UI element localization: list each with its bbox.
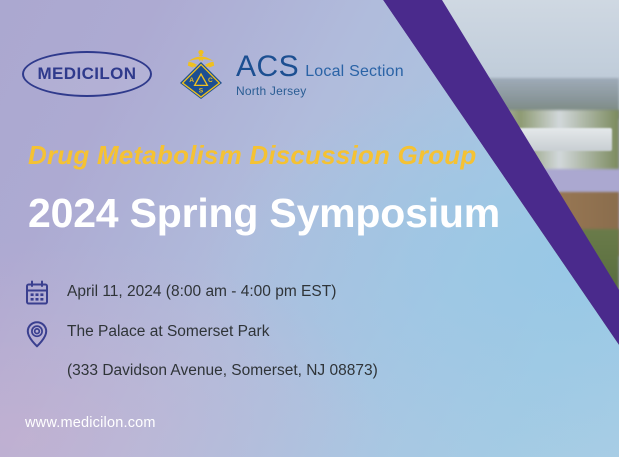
acs-acronym: ACS bbox=[236, 52, 299, 82]
event-details: April 11, 2024 (8:00 am - 4:00 pm EST) T… bbox=[24, 282, 378, 380]
website-url: www.medicilon.com bbox=[25, 415, 156, 431]
event-kicker: Drug Metabolism Discussion Group bbox=[28, 140, 476, 171]
event-venue-text: The Palace at Somerset Park bbox=[67, 322, 269, 341]
medicilon-wordmark: MEDICILON bbox=[22, 51, 152, 97]
banner-content: MEDICILON bbox=[0, 0, 619, 457]
acs-chapter: North Jersey bbox=[236, 85, 404, 97]
page-title: 2024 Spring Symposium bbox=[28, 190, 500, 237]
event-banner: MEDICILON bbox=[0, 0, 619, 457]
logo-row: MEDICILON bbox=[22, 47, 404, 101]
event-address-text: (333 Davidson Avenue, Somerset, NJ 08873… bbox=[67, 362, 378, 380]
event-date-text: April 11, 2024 (8:00 am - 4:00 pm EST) bbox=[67, 282, 336, 301]
location-pin-icon bbox=[24, 320, 50, 348]
acs-logo: A C S ACS Local Section North Jersey bbox=[174, 47, 404, 101]
svg-text:C: C bbox=[208, 77, 213, 84]
svg-text:A: A bbox=[189, 77, 194, 84]
event-date-row: April 11, 2024 (8:00 am - 4:00 pm EST) bbox=[24, 282, 378, 308]
acs-descriptor: Local Section bbox=[305, 64, 404, 80]
medicilon-logo: MEDICILON bbox=[22, 51, 152, 97]
acs-primary-line: ACS Local Section bbox=[236, 52, 404, 82]
calendar-icon bbox=[24, 280, 50, 308]
event-venue-row: The Palace at Somerset Park bbox=[24, 322, 378, 348]
acs-text-block: ACS Local Section North Jersey bbox=[236, 52, 404, 97]
acs-diamond-phoenix-icon: A C S bbox=[174, 47, 228, 101]
svg-text:S: S bbox=[199, 88, 204, 95]
